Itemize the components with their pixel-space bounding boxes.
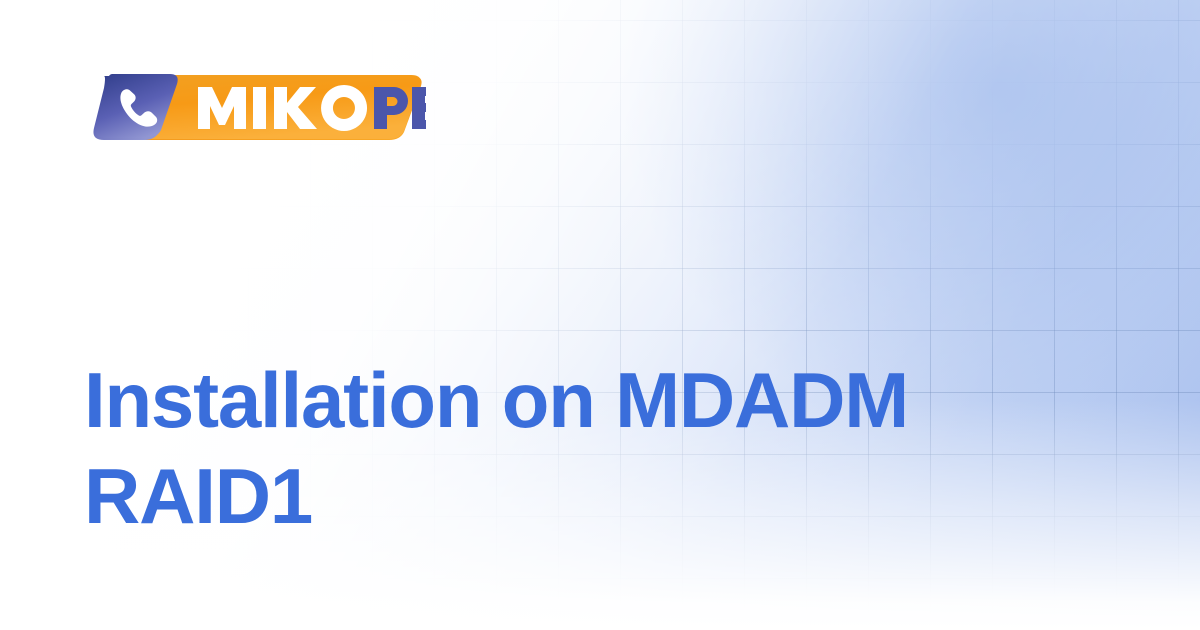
page-title: Installation on MDADM RAID1 (84, 352, 1074, 544)
mikopbx-logo[interactable] (86, 70, 426, 146)
og-card: Installation on MDADM RAID1 (0, 0, 1200, 630)
